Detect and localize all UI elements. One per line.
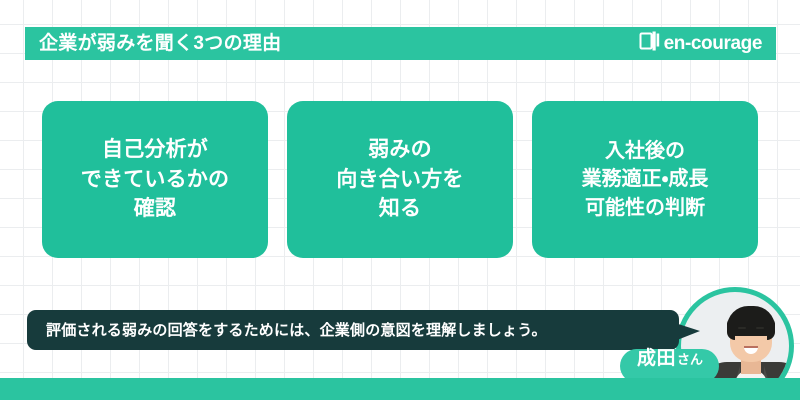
reason-card-3: 入社後の 業務適正・成長 可能性の判断 <box>532 101 758 258</box>
reason-card-1-label: 自己分析が できているかの 確認 <box>81 135 229 224</box>
brand-logo: en-courage <box>639 30 762 57</box>
portrait-eyebrow-left <box>738 327 746 329</box>
bottom-accent-strip <box>0 378 800 400</box>
header-bar: 企業が弱みを聞く3つの理由 en-courage <box>25 27 776 60</box>
portrait-hair-left <box>727 318 735 340</box>
portrait-eye-left <box>739 332 745 335</box>
book-logo-icon <box>639 30 661 57</box>
reason-card-2: 弱みの 向き合い方を 知る <box>287 101 513 258</box>
reason-card-3-label: 入社後の 業務適正・成長 可能性の判断 <box>582 137 709 222</box>
speaker-honorific: さん <box>677 353 703 366</box>
brand-logo-text: en-courage <box>664 34 762 53</box>
caption-bubble: 評価される弱みの回答をするためには、企業側の意図を理解しましょう。 <box>27 310 679 350</box>
reason-card-2-label: 弱みの 向き合い方を 知る <box>336 135 463 224</box>
portrait-eyebrow-right <box>756 327 764 329</box>
caption-text: 評価される弱みの回答をするためには、企業側の意図を理解しましょう。 <box>46 323 547 338</box>
slide-canvas: 企業が弱みを聞く3つの理由 en-courage 自己分析が できているかの 確… <box>0 0 800 400</box>
speaker-name: 成田 <box>637 349 676 368</box>
page-title: 企業が弱みを聞く3つの理由 <box>39 34 281 53</box>
portrait-hair-right <box>767 318 775 340</box>
reason-card-group: 自己分析が できているかの 確認 弱みの 向き合い方を 知る 入社後の 業務適正… <box>42 101 758 258</box>
reason-card-1: 自己分析が できているかの 確認 <box>42 101 268 258</box>
portrait-eye-right <box>757 332 763 335</box>
